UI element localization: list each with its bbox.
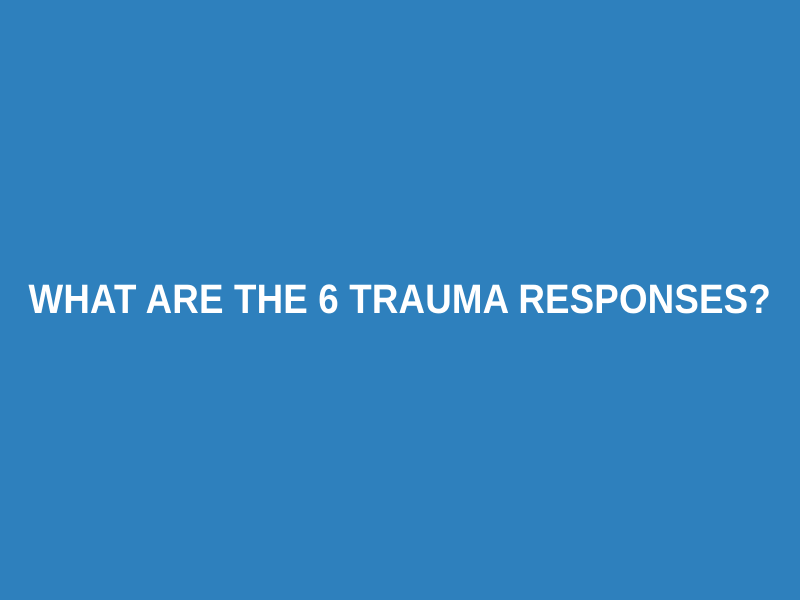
- hero-title-block: What Are The 6 Trauma Responses?: [0, 0, 800, 600]
- page-title: What Are The 6 Trauma Responses?: [29, 278, 771, 321]
- hero-banner: What Are The 6 Trauma Responses?: [0, 0, 800, 600]
